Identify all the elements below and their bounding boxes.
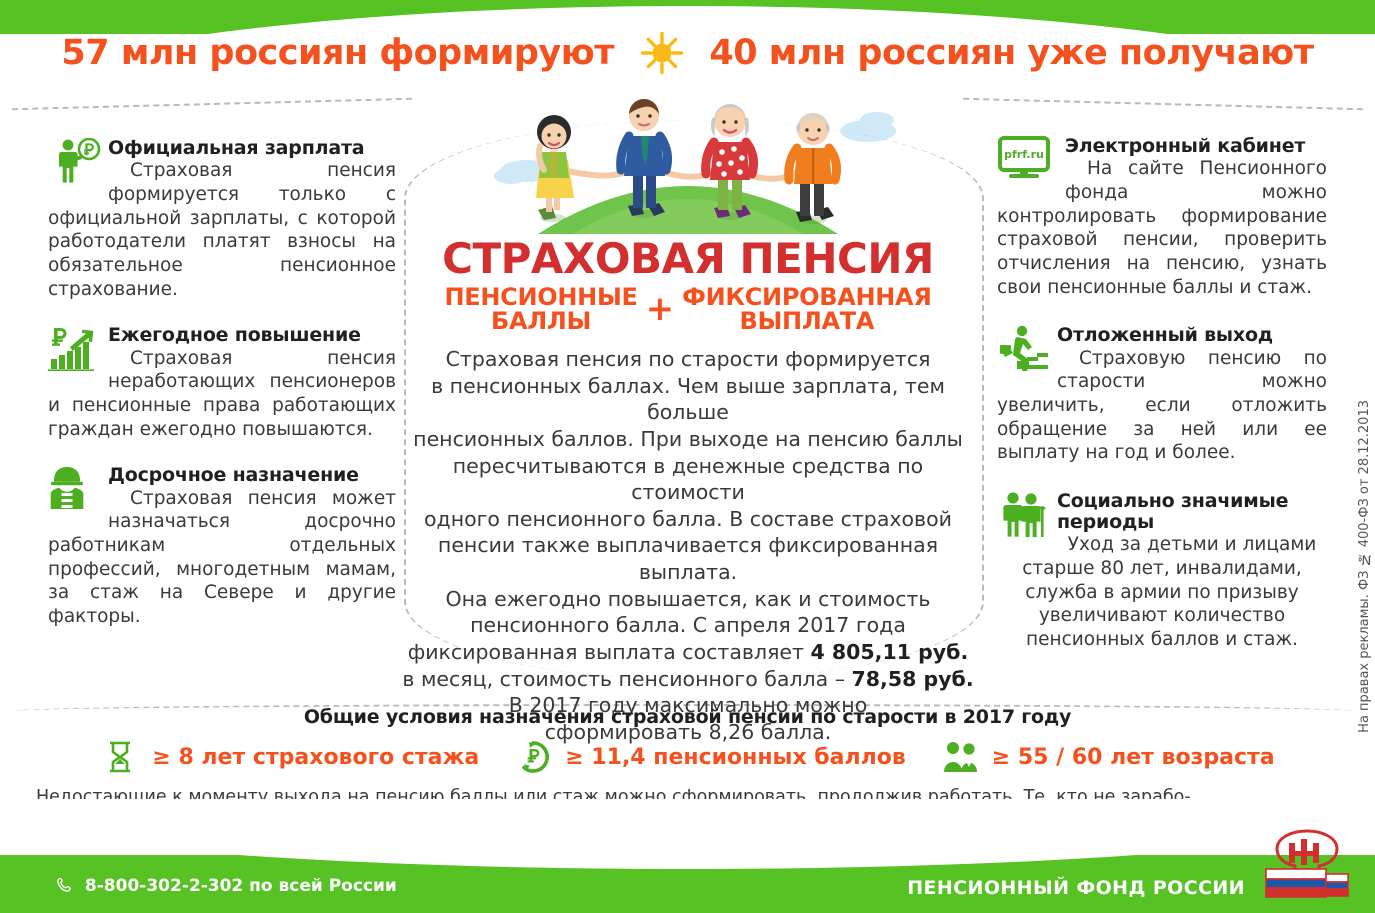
- center-body-text: Страховая пенсия по старости формируется…: [398, 346, 978, 746]
- subtitle-fixed-line1: ФИКСИРОВАННАЯ: [682, 285, 931, 309]
- legal-disclaimer: На правах рекламы. ФЗ № 400-ФЗ от 28.12.…: [1357, 400, 1372, 733]
- condition-text: ≥ 8 лет страхового стажа: [152, 745, 479, 770]
- monitor-pfrf-ru-icon: pfrf.ru: [997, 136, 1059, 182]
- phone-icon: [56, 877, 73, 899]
- subtitle-fixed: ФИКСИРОВАННАЯ ВЫПЛАТА: [682, 285, 931, 334]
- center-body-line: Она ежегодно повышается, как и стоимость: [398, 586, 978, 613]
- subtitle-points-line1: ПЕНСИОННЫЕ: [445, 285, 638, 309]
- center-body-line: одного пенсионного балла. В составе стра…: [398, 506, 978, 533]
- center-subtitle: ПЕНСИОННЫЕ БАЛЛЫ + ФИКСИРОВАННАЯ ВЫПЛАТА: [398, 285, 978, 334]
- condition-text: ≥ 55 / 60 лет возраста: [992, 745, 1275, 770]
- center-body-line-fixed: фиксированная выплата составляет 4 805,1…: [398, 639, 978, 666]
- fixed-payment-value: 4 805,11 руб.: [810, 640, 968, 664]
- ruble-recycle-icon: [513, 740, 555, 774]
- center-body-line: пенсионных баллов. При выходе на пенсию …: [398, 426, 978, 453]
- center-column: СТРАХОВАЯ ПЕНСИЯ ПЕНСИОННЫЕ БАЛЛЫ + ФИКС…: [398, 86, 978, 746]
- block-deferred-retirement: Отложенный выход Страховую пенсию по ста…: [997, 325, 1327, 465]
- person-with-ruble-icon: [48, 138, 102, 184]
- block-official-salary: Официальная зарплата Страховая пенсия фо…: [48, 138, 396, 301]
- hourglass-icon: [100, 740, 142, 774]
- plus-sign: +: [646, 289, 675, 329]
- block-electronic-cabinet: pfrf.ru Электронный кабинет На сайте Пен…: [997, 136, 1327, 299]
- center-body-line: пенсионного балла. С апреля 2017 года: [398, 612, 978, 639]
- point-cost-value: 78,58 руб.: [852, 667, 974, 691]
- center-body-line: пересчитываются в денежные средства по с…: [398, 453, 978, 506]
- subtitle-points: ПЕНСИОННЫЕ БАЛЛЫ: [445, 285, 638, 334]
- pfr-logo-russian-flag: [1257, 829, 1357, 907]
- condition-item: ≥ 11,4 пенсионных баллов: [513, 740, 906, 774]
- block-annual-increase: Ежегодное повышение Страховая пенсия нер…: [48, 325, 396, 441]
- infographic-poster: 57 млн россиян формируют 40 млн россиян …: [0, 0, 1375, 913]
- running-person-stairs-icon: [997, 325, 1051, 371]
- headline-right: 40 млн россиян уже получают: [709, 33, 1313, 73]
- point-cost-label: в месяц, стоимость пенсионного балла –: [402, 667, 851, 691]
- center-body-line-point: в месяц, стоимость пенсионного балла – 7…: [398, 666, 978, 693]
- block-social-periods: Социально значимые периоды Уход за детьм…: [997, 491, 1327, 652]
- headline-left: 57 млн россиян формируют: [61, 33, 614, 73]
- condition-text: ≥ 11,4 пенсионных баллов: [565, 745, 906, 770]
- subtitle-fixed-line2: ВЫПЛАТА: [682, 309, 931, 333]
- center-body-line: Страховая пенсия по старости формируется: [398, 346, 978, 373]
- block-body: Уход за детьми и лицами старше 80 лет, и…: [997, 533, 1327, 651]
- worker-helmet-icon: [48, 465, 102, 511]
- center-title: СТРАХОВАЯ ПЕНСИЯ: [398, 238, 978, 280]
- left-column: Официальная зарплата Страховая пенсия фо…: [48, 138, 396, 643]
- svg-text:pfrf.ru: pfrf.ru: [1004, 148, 1044, 161]
- ruble-growth-chart-icon: [48, 325, 102, 371]
- conditions-row: ≥ 8 лет страхового стажа ≥: [0, 740, 1375, 774]
- footer-phone-text: 8-800-302-2-302 по всей России: [85, 876, 397, 896]
- condition-item: ≥ 55 / 60 лет возраста: [940, 740, 1275, 774]
- center-body-line: пенсии также выплачивается фиксированная…: [398, 532, 978, 585]
- four-people-holding-hands-illustration: [478, 86, 898, 234]
- conditions-title: Общие условия назначения страховой пенси…: [0, 706, 1375, 728]
- elderly-care-icon: [997, 491, 1051, 537]
- footer-phone[interactable]: 8-800-302-2-302 по всей России: [56, 876, 397, 899]
- sun-icon: [640, 31, 684, 75]
- right-column: pfrf.ru Электронный кабинет На сайте Пен…: [997, 136, 1327, 666]
- fixed-payment-label: фиксированная выплата составляет: [408, 640, 811, 664]
- condition-item: ≥ 8 лет страхового стажа: [100, 740, 479, 774]
- page-headline: 57 млн россиян формируют 40 млн россиян …: [0, 31, 1375, 75]
- footer-org-name: ПЕНСИОННЫЙ ФОНД РОССИИ: [907, 877, 1245, 899]
- center-body-line: в пенсионных баллах. Чем выше зарплата, …: [398, 373, 978, 426]
- block-title-text: Социально значимые периоды: [1057, 490, 1288, 533]
- two-people-icon: [940, 740, 982, 774]
- subtitle-points-line2: БАЛЛЫ: [445, 309, 638, 333]
- block-early-assignment: Досрочное назначение Страховая пенсия мо…: [48, 465, 396, 628]
